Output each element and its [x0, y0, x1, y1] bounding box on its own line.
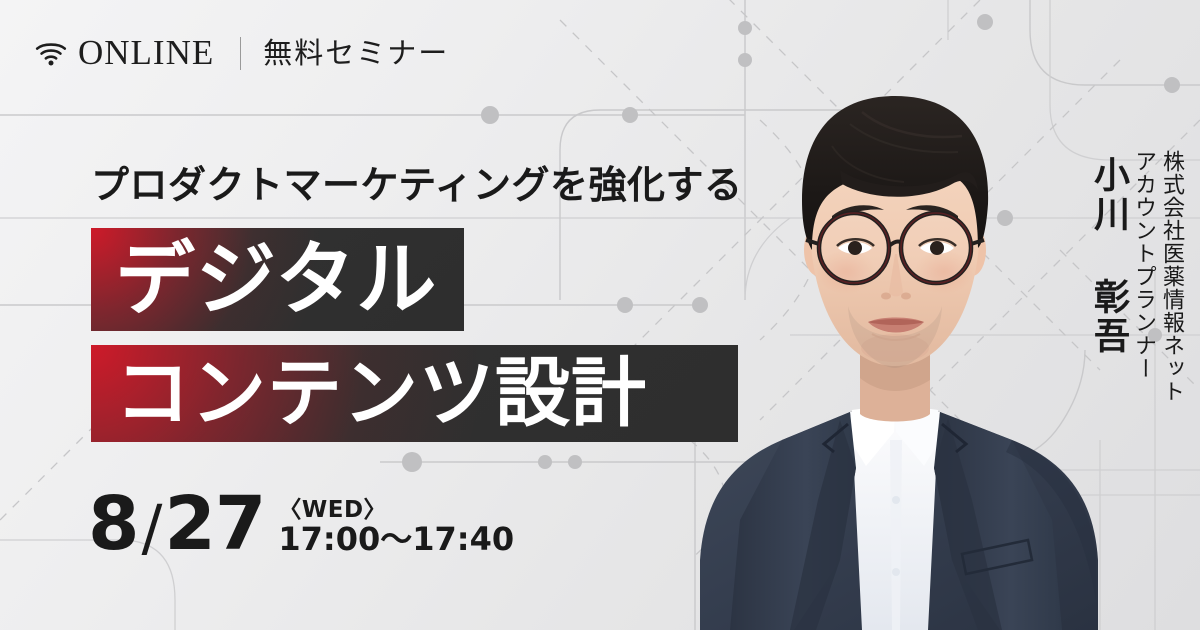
headline-line1-text: デジタル [91, 240, 437, 320]
header-bar: ONLINE 無料セミナー [34, 33, 449, 73]
headline-line2-text: コンテンツ設計 [91, 356, 647, 431]
event-datetime: 8 / 27 〈WED〉 17:00〜17:40 [88, 487, 514, 561]
event-time: 17:00〜17:40 [278, 522, 514, 557]
speaker-company: 株式会社医薬情報ネット [1160, 150, 1182, 403]
headline-kicker: プロダクトマーケティングを強化する [91, 166, 742, 204]
online-label: ONLINE [78, 35, 214, 72]
event-day: 27 [164, 487, 265, 561]
event-date: 8 / 27 [88, 487, 265, 561]
wifi-icon [34, 40, 68, 66]
header-divider [240, 37, 241, 70]
event-month: 8 [88, 487, 139, 561]
date-separator: / [142, 497, 163, 559]
seminar-banner: .ln { fill:none; stroke:#c9c9cb; stroke-… [0, 0, 1200, 630]
event-weekday-time: 〈WED〉 17:00〜17:40 [278, 498, 514, 561]
headline-box-line1: デジタル [91, 228, 464, 331]
headline-box-line2: コンテンツ設計 [91, 345, 738, 442]
free-seminar-label: 無料セミナー [263, 39, 449, 68]
speaker-portrait [690, 0, 1110, 630]
speaker-name: 小川 彰吾 [1090, 156, 1126, 356]
speaker-info: 小川 彰吾 アカウントプランナー 株式会社医薬情報ネット [1084, 150, 1182, 403]
speaker-role: アカウントプランナー [1132, 150, 1154, 380]
event-weekday: 〈WED〉 [278, 498, 514, 522]
